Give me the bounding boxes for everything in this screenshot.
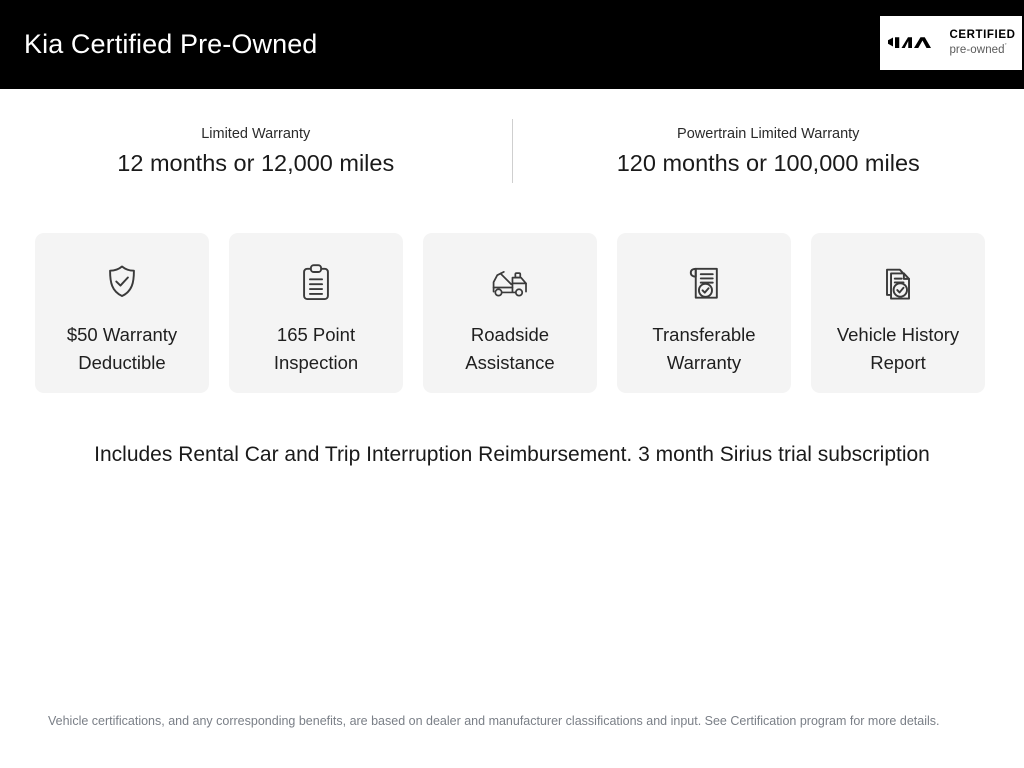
feature-card-label: Vehicle History Report xyxy=(811,321,985,377)
logo-certified-text: CERTIFIED xyxy=(949,30,1015,42)
warranty-value: 120 months or 100,000 miles xyxy=(513,147,1024,179)
feature-card-warranty-deductible: $50 Warranty Deductible xyxy=(35,233,209,393)
feature-card-roadside-assistance: Roadside Assistance xyxy=(423,233,597,393)
kia-certified-pre-owned-page: Kia Certified Pre-Owned CERTIFIED pre-ow… xyxy=(0,0,1024,768)
feature-card-row: $50 Warranty Deductible 165 Point Inspec… xyxy=(35,233,989,393)
feature-card-label: $50 Warranty Deductible xyxy=(35,321,209,377)
documents-check-icon xyxy=(875,260,921,306)
feature-card-transferable-warranty: Transferable Warranty xyxy=(617,233,791,393)
footer-disclaimer: Vehicle certifications, and any correspo… xyxy=(48,713,980,730)
page-header: Kia Certified Pre-Owned CERTIFIED pre-ow… xyxy=(0,0,1024,89)
warranty-summary-row: Limited Warranty 12 months or 12,000 mil… xyxy=(0,115,1024,187)
warranty-column-limited: Limited Warranty 12 months or 12,000 mil… xyxy=(0,123,512,179)
certificate-check-icon xyxy=(681,260,727,306)
warranty-value: 12 months or 12,000 miles xyxy=(0,147,512,179)
logo-preowned-text: pre-owned˚ xyxy=(949,44,1015,56)
kia-certified-preowned-logo: CERTIFIED pre-owned˚ xyxy=(880,16,1022,70)
feature-card-vehicle-history-report: Vehicle History Report xyxy=(811,233,985,393)
tow-truck-icon xyxy=(487,260,533,306)
clipboard-icon xyxy=(293,260,339,306)
kia-logo-mark xyxy=(886,34,940,52)
feature-card-label: Transferable Warranty xyxy=(617,321,791,377)
feature-card-point-inspection: 165 Point Inspection xyxy=(229,233,403,393)
warranty-column-powertrain: Powertrain Limited Warranty 120 months o… xyxy=(513,123,1024,179)
feature-card-label: Roadside Assistance xyxy=(423,321,597,377)
feature-card-label: 165 Point Inspection xyxy=(229,321,403,377)
includes-note: Includes Rental Car and Trip Interruptio… xyxy=(0,440,1024,470)
warranty-label: Limited Warranty xyxy=(0,123,512,145)
logo-text-block: CERTIFIED pre-owned˚ xyxy=(949,30,1015,56)
page-title: Kia Certified Pre-Owned xyxy=(24,27,317,61)
warranty-label: Powertrain Limited Warranty xyxy=(513,123,1024,145)
shield-check-icon xyxy=(99,260,145,306)
